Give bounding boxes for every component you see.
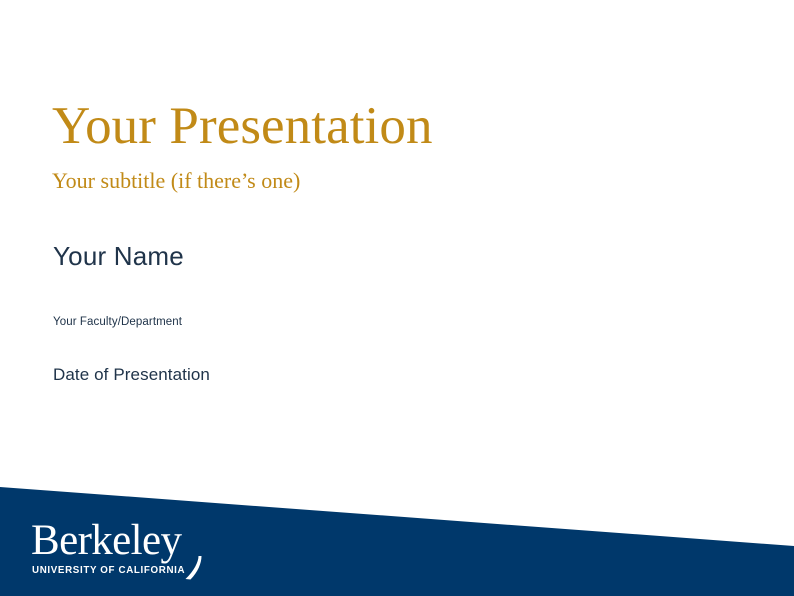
presenter-department: Your Faculty/Department xyxy=(53,314,753,330)
page-subtitle: Your subtitle (if there’s one) xyxy=(52,166,752,196)
presentation-slide: Your Presentation Your subtitle (if ther… xyxy=(0,0,794,596)
berkeley-tagline: UNIVERSITY OF CALIFORNIA xyxy=(32,564,236,576)
berkeley-swash-icon xyxy=(178,556,204,582)
presenter-name: Your Name xyxy=(53,240,753,272)
presenter-block: Your Name Your Faculty/Department Date o… xyxy=(53,240,753,386)
berkeley-wordmark: Berkeley xyxy=(31,521,251,561)
title-block: Your Presentation Your subtitle (if ther… xyxy=(52,96,752,196)
presentation-date: Date of Presentation xyxy=(53,364,753,386)
page-title: Your Presentation xyxy=(52,96,752,156)
berkeley-logo: Berkeley UNIVERSITY OF CALIFORNIA xyxy=(31,521,251,579)
